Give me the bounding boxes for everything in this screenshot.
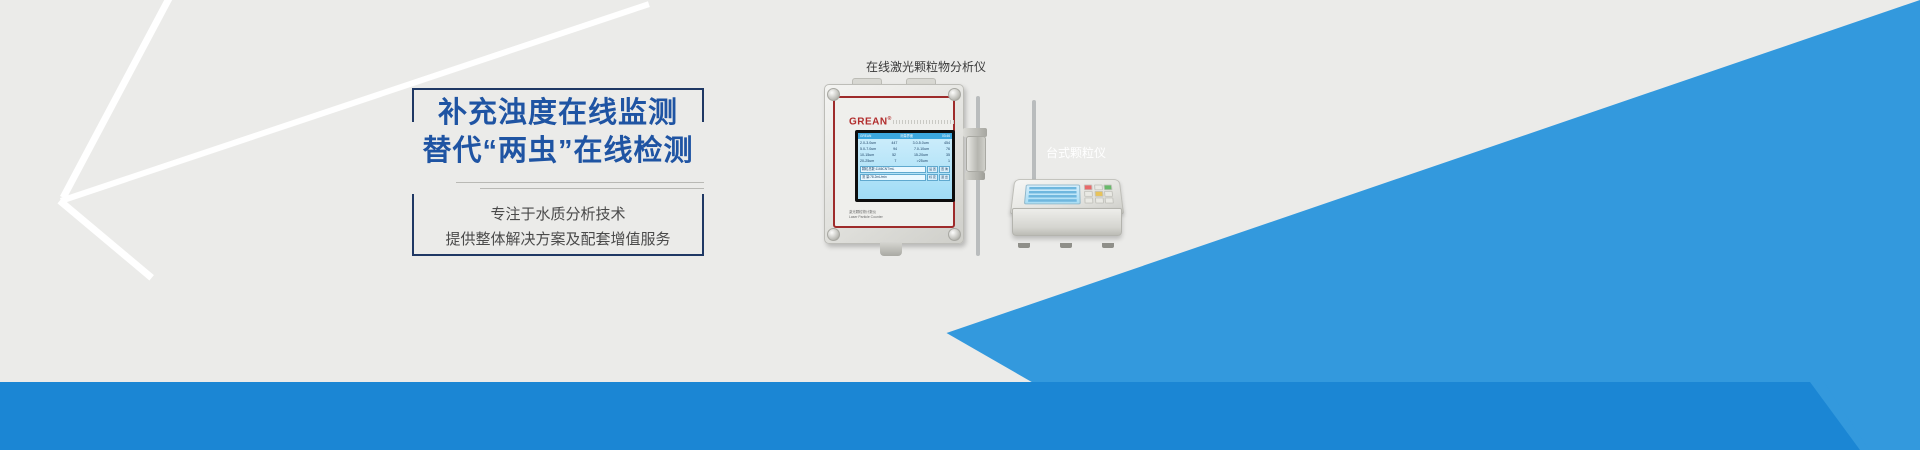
lcd-data-table: 2.0-3.0um 447 3.0-5.0um 454 5.0-7.0um 94… xyxy=(858,139,952,164)
subtitle-group: 专注于水质分析技术 提供整体解决方案及配套增值服务 xyxy=(412,202,704,252)
screw-top-right xyxy=(948,88,961,101)
cell-value-2: 1 xyxy=(948,158,950,164)
sensor-body xyxy=(966,136,986,172)
settings-button[interactable]: 设 置 xyxy=(927,166,938,173)
screw-bottom-left xyxy=(827,228,840,241)
divider-upper xyxy=(456,182,704,183)
bench-feet xyxy=(1018,243,1114,248)
lcd-title-center: 测量界面 xyxy=(900,133,913,139)
subtitle-line-2: 提供整体解决方案及配套增值服务 xyxy=(412,227,704,252)
lcd-bezel: GREAN 测量界面 03:46 2.0-3.0um 447 3.0-5.0um… xyxy=(855,130,955,202)
lcd-footer-row-1: 颗粒总数:1166CNT/mL 设 置 查 询 xyxy=(860,166,950,173)
label-bench-analyzer: 台式颗粒仪 xyxy=(1046,146,1106,160)
brand-logo: GREAN® xyxy=(849,116,892,127)
enclosure-inner-frame: GREAN® GREAN 测量界面 03:46 2.0-3.0um 447 3.… xyxy=(833,96,955,228)
brand-registered-mark: ® xyxy=(888,116,892,122)
query-button[interactable]: 查 询 xyxy=(939,166,950,173)
promo-banner: 补充浊度在线监测 替代“两虫”在线检测 专注于水质分析技术 提供整体解决方案及配… xyxy=(0,0,1920,450)
page-title: 补充浊度在线监测 替代“两虫”在线检测 xyxy=(406,94,710,170)
bench-particle-counter xyxy=(1010,172,1122,244)
bench-base xyxy=(1012,208,1122,236)
cable-gland xyxy=(880,242,902,256)
sensor-foot xyxy=(965,172,985,180)
headline-line-1: 补充浊度在线监测 xyxy=(406,94,710,132)
lcd-display[interactable]: GREAN 测量界面 03:46 2.0-3.0um 447 3.0-5.0um… xyxy=(858,133,952,199)
online-laser-particle-analyzer: GREAN® GREAN 测量界面 03:46 2.0-3.0um 447 3.… xyxy=(824,84,964,244)
label-online-analyzer: 在线激光颗粒物分析仪 xyxy=(866,60,986,74)
bench-keypad[interactable] xyxy=(1084,185,1114,204)
particle-count-field: 颗粒总数:1166CNT/mL xyxy=(860,166,926,173)
screw-bottom-right xyxy=(948,228,961,241)
bench-display[interactable] xyxy=(1024,185,1081,205)
divider-group xyxy=(412,182,704,194)
exit-button[interactable]: 退 出 xyxy=(939,174,950,181)
lcd-footer: 颗粒总数:1166CNT/mL 设 置 查 询 流 量:78.2mL/min 标… xyxy=(858,164,952,181)
device-footer-text: 激光颗粒物计数仪 Laser Particle Counter xyxy=(849,210,883,220)
screw-top-left xyxy=(827,88,840,101)
frame-border-top xyxy=(412,88,704,90)
lcd-footer-row-2: 流 量:78.2mL/min 标 定 退 出 xyxy=(860,174,950,181)
brand-text: GREAN xyxy=(849,116,888,127)
background-blue-bottom-bar xyxy=(0,382,1920,450)
cell-range-2: >25um xyxy=(917,158,928,164)
subtitle-line-1: 专注于水质分析技术 xyxy=(412,202,704,227)
device-footer-en: Laser Particle Counter xyxy=(849,215,883,220)
decorative-hatch xyxy=(893,120,955,124)
flow-sensor-assembly xyxy=(962,128,988,180)
lcd-title-left: GREAN xyxy=(860,133,871,139)
frame-border-bottom xyxy=(412,254,704,256)
cell-range-1: 20-25um xyxy=(860,158,874,164)
divider-lower xyxy=(480,188,704,189)
flow-rate-field: 流 量:78.2mL/min xyxy=(860,174,926,181)
lcd-title-right: 03:46 xyxy=(942,133,950,139)
headline-frame: 补充浊度在线监测 替代“两虫”在线检测 专注于水质分析技术 提供整体解决方案及配… xyxy=(412,88,704,256)
cell-value-1: 7 xyxy=(894,158,896,164)
calibrate-button[interactable]: 标 定 xyxy=(927,174,938,181)
headline-line-2: 替代“两虫”在线检测 xyxy=(406,132,710,170)
